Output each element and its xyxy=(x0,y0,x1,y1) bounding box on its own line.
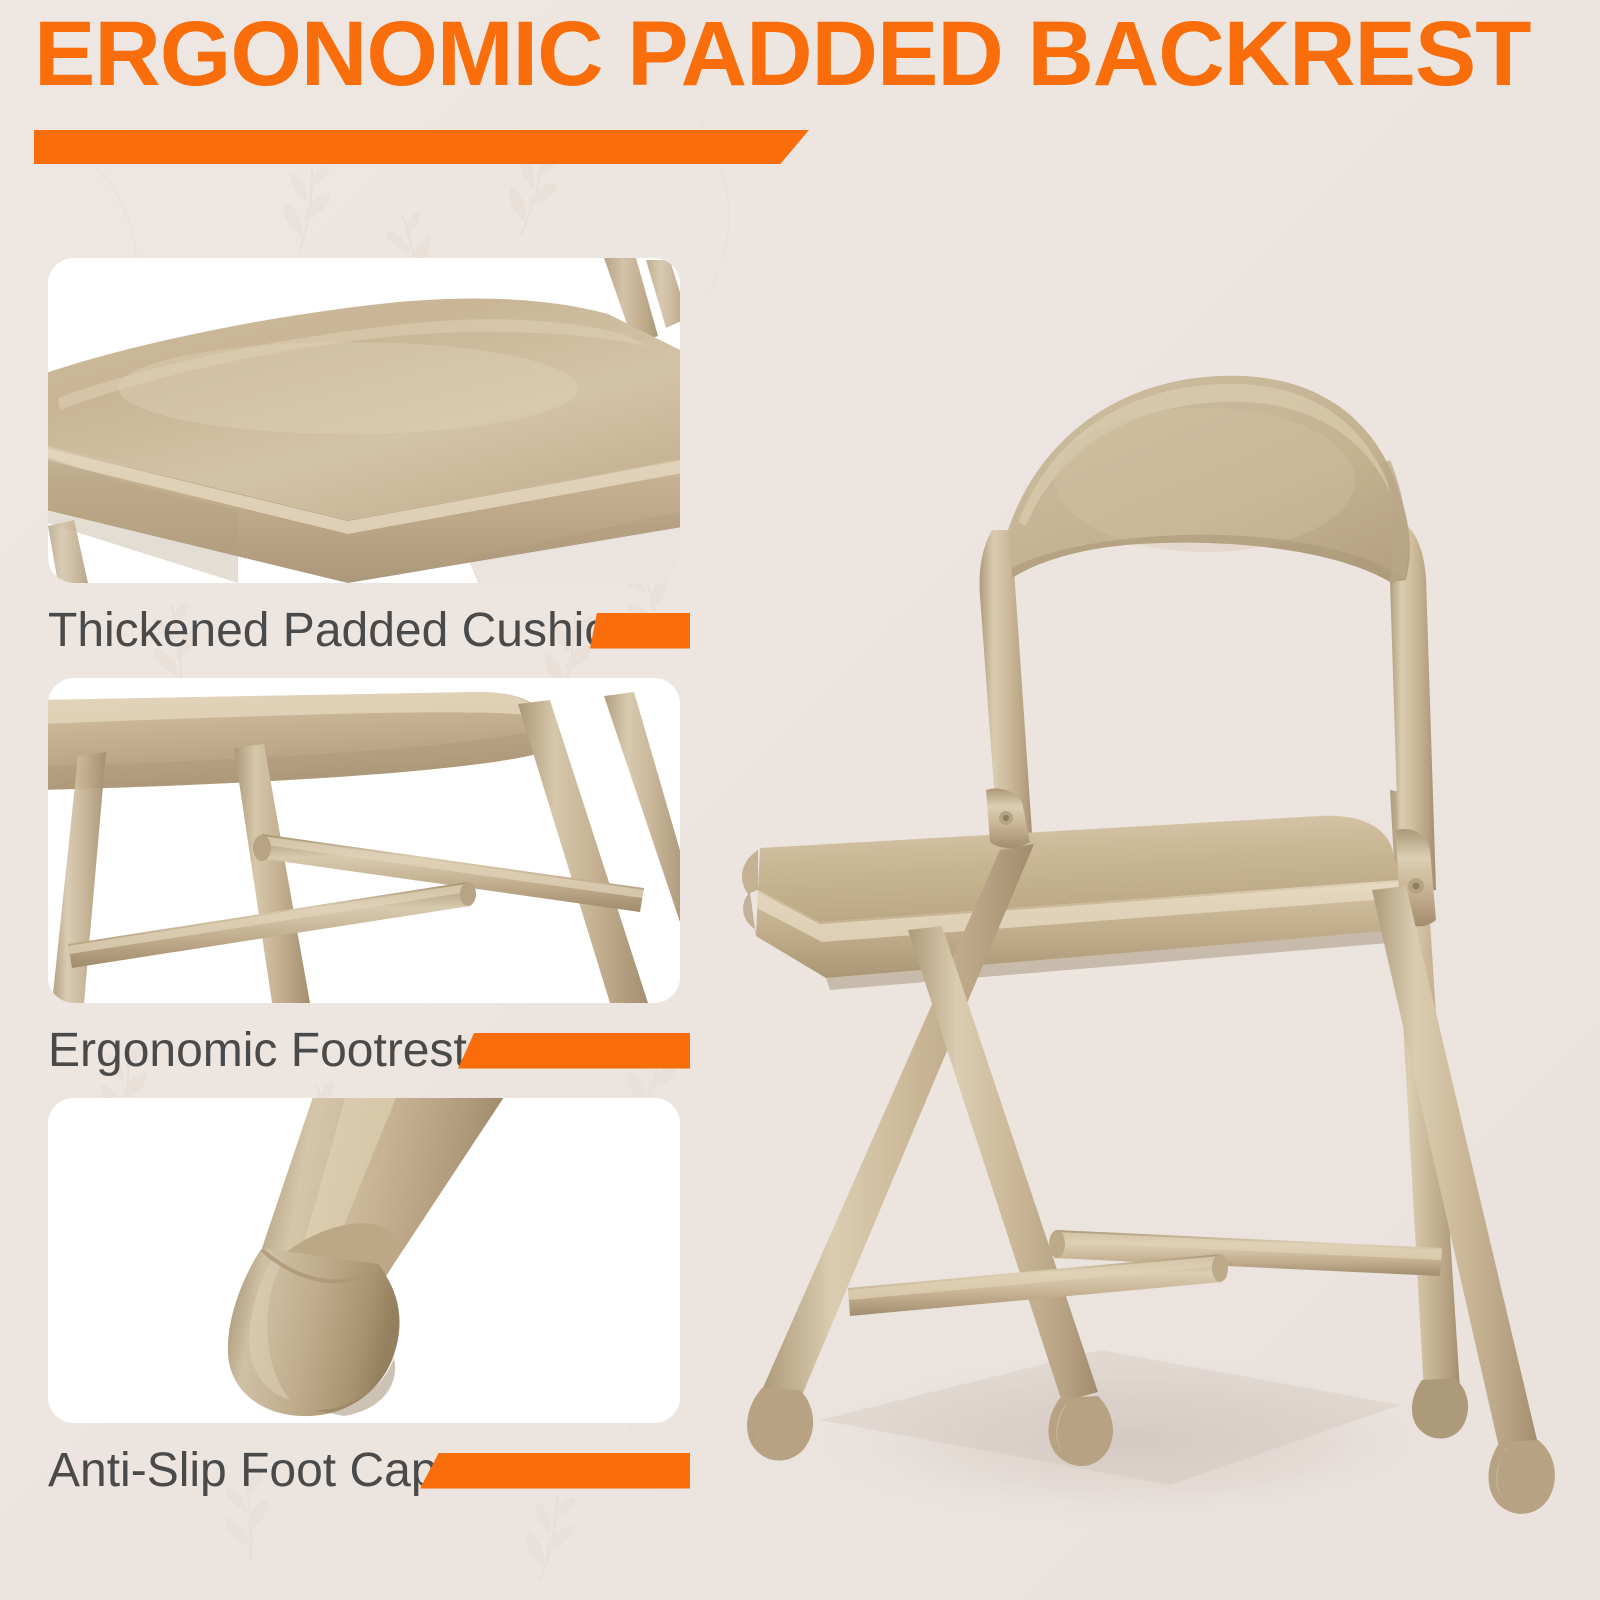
feature-card-list: Thickened Padded Cushion xyxy=(48,258,680,1518)
caption-accent-bar-cushion xyxy=(590,613,690,649)
hero-product-image xyxy=(700,230,1600,1560)
title-accent-bar xyxy=(34,130,809,164)
caption-row-foot-caps: Anti-Slip Foot Caps xyxy=(48,1423,680,1518)
feature-card-footrest[interactable]: Ergonomic Footrest xyxy=(48,678,680,1098)
footrest-crossbar-closeup-photo xyxy=(48,678,680,1003)
feature-caption-cushion: Thickened Padded Cushion xyxy=(48,603,638,658)
page-title: ERGONOMIC PADDED BACKREST xyxy=(34,8,1530,100)
feature-caption-footrest: Ergonomic Footrest xyxy=(48,1023,467,1078)
feature-card-cushion[interactable]: Thickened Padded Cushion xyxy=(48,258,680,678)
feature-caption-foot-caps: Anti-Slip Foot Caps xyxy=(48,1443,462,1498)
caption-accent-bar-foot-caps xyxy=(420,1453,690,1489)
caption-row-footrest: Ergonomic Footrest xyxy=(48,1003,680,1098)
caption-row-cushion: Thickened Padded Cushion xyxy=(48,583,680,678)
feature-card-foot-caps[interactable]: Anti-Slip Foot Caps xyxy=(48,1098,680,1518)
header-block: ERGONOMIC PADDED BACKREST xyxy=(34,8,1530,164)
caption-accent-bar-footrest xyxy=(458,1033,690,1069)
foot-cap-closeup-photo xyxy=(48,1098,680,1423)
seat-cushion-closeup-photo xyxy=(48,258,680,583)
